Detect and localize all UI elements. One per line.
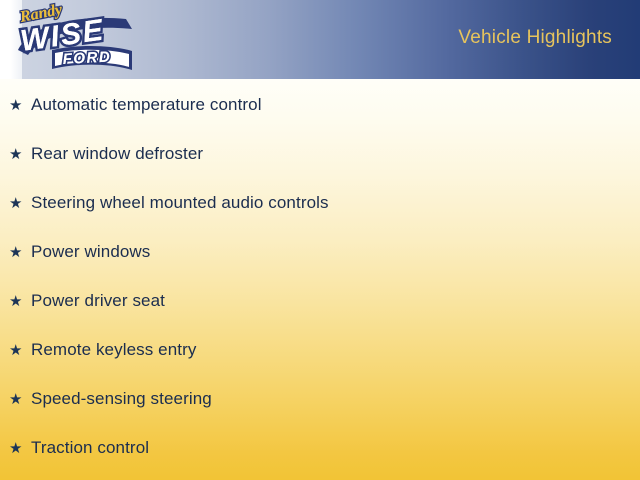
page-title: Vehicle Highlights: [458, 27, 612, 49]
list-item: ★ Power driver seat: [0, 292, 640, 341]
star-icon: ★: [9, 441, 31, 456]
highlight-label: Remote keyless entry: [31, 341, 196, 358]
list-item: ★ Speed-sensing steering: [0, 390, 640, 439]
logo-ford-banner: FORD FORD: [52, 46, 132, 70]
star-icon: ★: [9, 196, 31, 211]
logo-artwork: WISE WISE Randy Randy FORD FORD: [8, 2, 136, 78]
star-icon: ★: [9, 147, 31, 162]
star-icon: ★: [9, 343, 31, 358]
list-item: ★ Automatic temperature control: [0, 96, 640, 145]
list-item: ★ Remote keyless entry: [0, 341, 640, 390]
highlight-label: Speed-sensing steering: [31, 390, 212, 407]
logo-ford-text-fill: FORD: [62, 48, 111, 68]
list-item: ★ Steering wheel mounted audio controls: [0, 194, 640, 243]
highlight-label: Power driver seat: [31, 292, 165, 309]
star-icon: ★: [9, 98, 31, 113]
list-item: ★ Power windows: [0, 243, 640, 292]
highlights-list: ★ Automatic temperature control ★ Rear w…: [0, 96, 640, 480]
highlight-label: Power windows: [31, 243, 150, 260]
highlight-label: Automatic temperature control: [31, 96, 262, 113]
star-icon: ★: [9, 245, 31, 260]
randy-wise-ford-logo: WISE WISE Randy Randy FORD FORD: [8, 2, 136, 78]
highlight-label: Steering wheel mounted audio controls: [31, 194, 329, 211]
star-icon: ★: [9, 392, 31, 407]
highlights-panel: ★ Automatic temperature control ★ Rear w…: [0, 79, 640, 480]
highlight-label: Traction control: [31, 439, 149, 456]
highlight-label: Rear window defroster: [31, 145, 203, 162]
header-bar: WISE WISE Randy Randy FORD FORD Vehicle …: [0, 0, 640, 79]
vehicle-highlights-slide: WISE WISE Randy Randy FORD FORD Vehicle …: [0, 0, 640, 480]
list-item: ★ Rear window defroster: [0, 145, 640, 194]
star-icon: ★: [9, 294, 31, 309]
list-item: ★ Traction control: [0, 439, 640, 480]
